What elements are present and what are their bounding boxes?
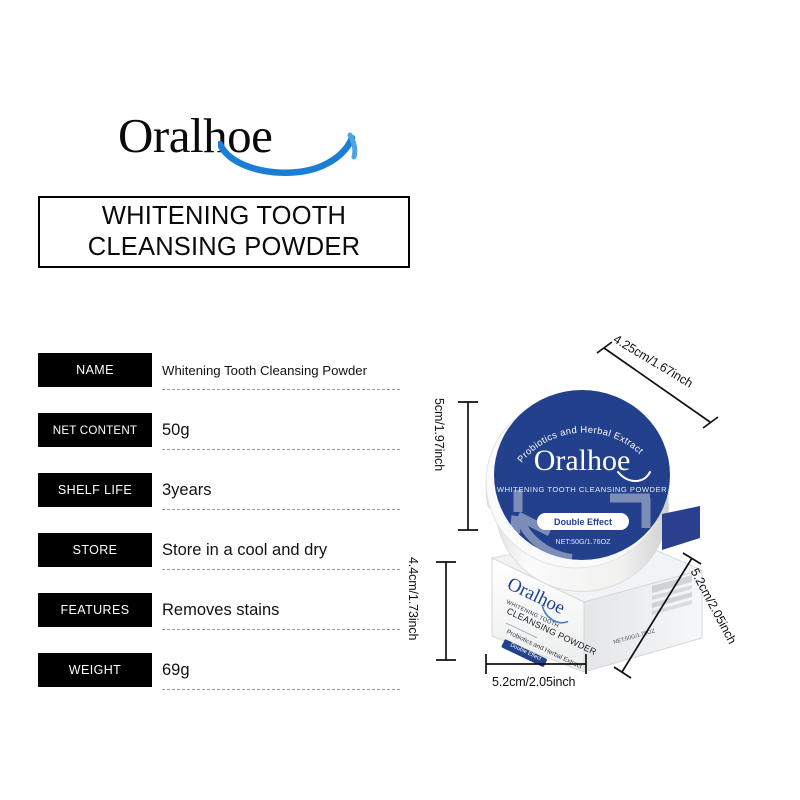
- spec-divider: [162, 509, 400, 510]
- table-row: NET CONTENT 50g: [38, 411, 400, 471]
- spec-value-shelf-life: 3years: [162, 473, 212, 507]
- page-title-line-1: WHITENING TOOTH: [88, 201, 360, 232]
- spec-table: NAME Whitening Tooth Cleansing Powder NE…: [38, 351, 400, 711]
- spec-label-store: STORE: [38, 533, 152, 567]
- product-title-box: WHITENING TOOTH CLEANSING POWDER: [38, 196, 410, 268]
- spec-value-store: Store in a cool and dry: [162, 533, 327, 567]
- brand-swoosh-icon: [218, 130, 368, 176]
- spec-label-shelf-life: SHELF LIFE: [38, 473, 152, 507]
- spec-label-net-content: NET CONTENT: [38, 413, 152, 447]
- spec-divider: [162, 629, 400, 630]
- dimension-label-tin-height: 5cm/1.97inch: [432, 398, 446, 471]
- spec-value-weight: 69g: [162, 653, 190, 687]
- product-photo: Oralhoe WHITENING TOOTH CLEANSING POWDER…: [400, 320, 800, 720]
- tin-net-weight: NET:50G/1.76OZ: [555, 537, 611, 546]
- spec-divider: [162, 689, 400, 690]
- table-row: FEATURES Removes stains: [38, 591, 400, 651]
- product-illustration: Oralhoe WHITENING TOOTH CLEANSING POWDER…: [400, 320, 800, 720]
- tin-badge-label: Double Effect: [554, 517, 612, 527]
- spec-label-name: NAME: [38, 353, 152, 387]
- page-title-line-2: CLEANSING POWDER: [88, 232, 360, 263]
- table-row: NAME Whitening Tooth Cleansing Powder: [38, 351, 400, 411]
- table-row: SHELF LIFE 3years: [38, 471, 400, 531]
- dimension-label-box-height: 4.4cm/1.73inch: [406, 557, 420, 640]
- spec-divider: [162, 389, 400, 390]
- spec-value-features: Removes stains: [162, 593, 279, 627]
- spec-value-net-content: 50g: [162, 413, 190, 447]
- spec-divider: [162, 569, 400, 570]
- brand-logo: Oralhoe: [118, 108, 378, 172]
- page-title: WHITENING TOOTH CLEANSING POWDER: [88, 201, 360, 263]
- table-row: WEIGHT 69g: [38, 651, 400, 711]
- spec-label-weight: WEIGHT: [38, 653, 152, 687]
- spec-label-features: FEATURES: [38, 593, 152, 627]
- spec-value-name: Whitening Tooth Cleansing Powder: [162, 353, 367, 387]
- tin-subtitle: WHITENING TOOTH CLEANSING POWDER: [497, 485, 667, 494]
- spec-divider: [162, 449, 400, 450]
- dimension-label-box-width: 5.2cm/2.05inch: [492, 675, 575, 689]
- table-row: STORE Store in a cool and dry: [38, 531, 400, 591]
- tin-brand-text: Oralhoe: [534, 444, 631, 477]
